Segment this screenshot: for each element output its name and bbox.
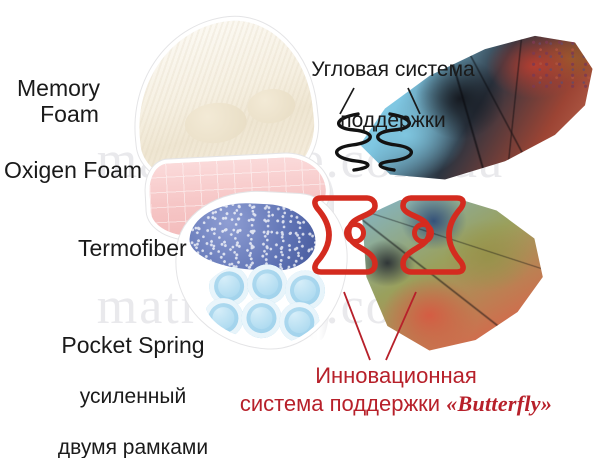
label-pocket-spring-line3: двумя рамками bbox=[38, 436, 228, 458]
label-corner-support-line2: поддержки bbox=[283, 108, 503, 133]
label-termofiber: Termofiber bbox=[78, 235, 187, 262]
butterfly-support-clip-icon bbox=[309, 188, 469, 284]
label-innovation-brand: «Butterfly» bbox=[446, 391, 552, 416]
label-innovation-line1: Инновационная bbox=[196, 362, 596, 390]
termofiber-layer bbox=[188, 200, 317, 273]
label-innovation-line2: система поддержки «Butterfly» bbox=[196, 390, 596, 418]
label-corner-support: Угловая система поддержки bbox=[283, 32, 503, 158]
label-innovation-prefix: система поддержки bbox=[240, 391, 446, 416]
spring-coil bbox=[240, 297, 282, 339]
label-memory-foam-line2: Foam bbox=[17, 101, 100, 128]
innovation-leader-lines bbox=[330, 288, 440, 366]
label-corner-support-line1: Угловая система bbox=[283, 57, 503, 82]
label-memory-foam: Memory Foam bbox=[17, 48, 100, 155]
label-memory-foam-line1: Memory bbox=[17, 75, 100, 101]
paint-spray bbox=[531, 28, 601, 88]
label-innovation-support: Инновационная система поддержки «Butterf… bbox=[196, 362, 596, 417]
infographic-canvas: matroluxe.com.ua matroluxe.com.ua bbox=[0, 0, 601, 458]
label-pocket-spring-line1: Pocket Spring bbox=[38, 332, 228, 359]
label-oxigen-foam: Oxigen Foam bbox=[4, 157, 142, 184]
